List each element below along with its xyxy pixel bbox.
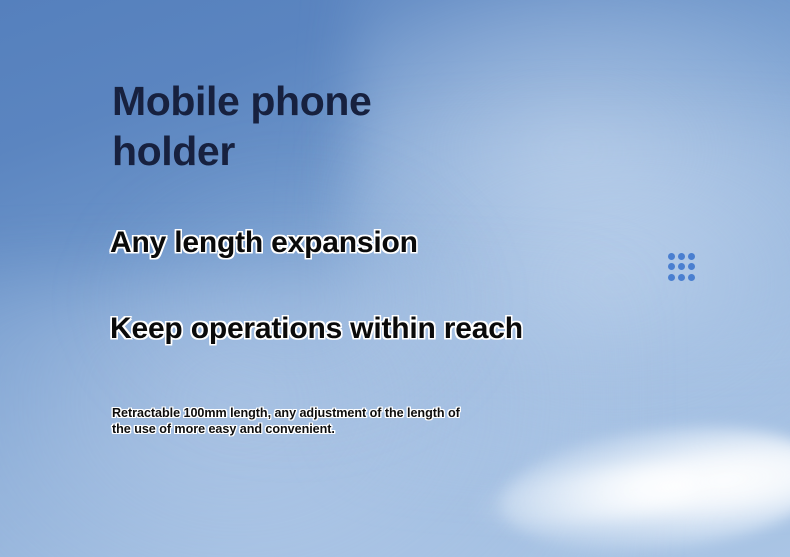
dot-grid-dot [678,253,685,260]
dot-grid-dot [688,253,695,260]
headline-keep-operations-within-reach: Keep operations within reach [110,312,523,346]
headline-any-length-expansion: Any length expansion [110,226,418,260]
banner-content: Mobile phone holder Any length expansion… [0,0,790,557]
dot-grid-dot [688,274,695,281]
dot-grid-dot [688,263,695,270]
product-description: Retractable 100mm length, any adjustment… [112,405,582,437]
dot-grid-dot [678,274,685,281]
product-banner: Mobile phone holder Any length expansion… [0,0,790,557]
dot-grid-dot [668,263,675,270]
dot-grid-dot [668,274,675,281]
product-title: Mobile phone holder [112,76,371,176]
dot-grid-icon [668,253,695,281]
dot-grid-dot [678,263,685,270]
dot-grid-dot [668,253,675,260]
